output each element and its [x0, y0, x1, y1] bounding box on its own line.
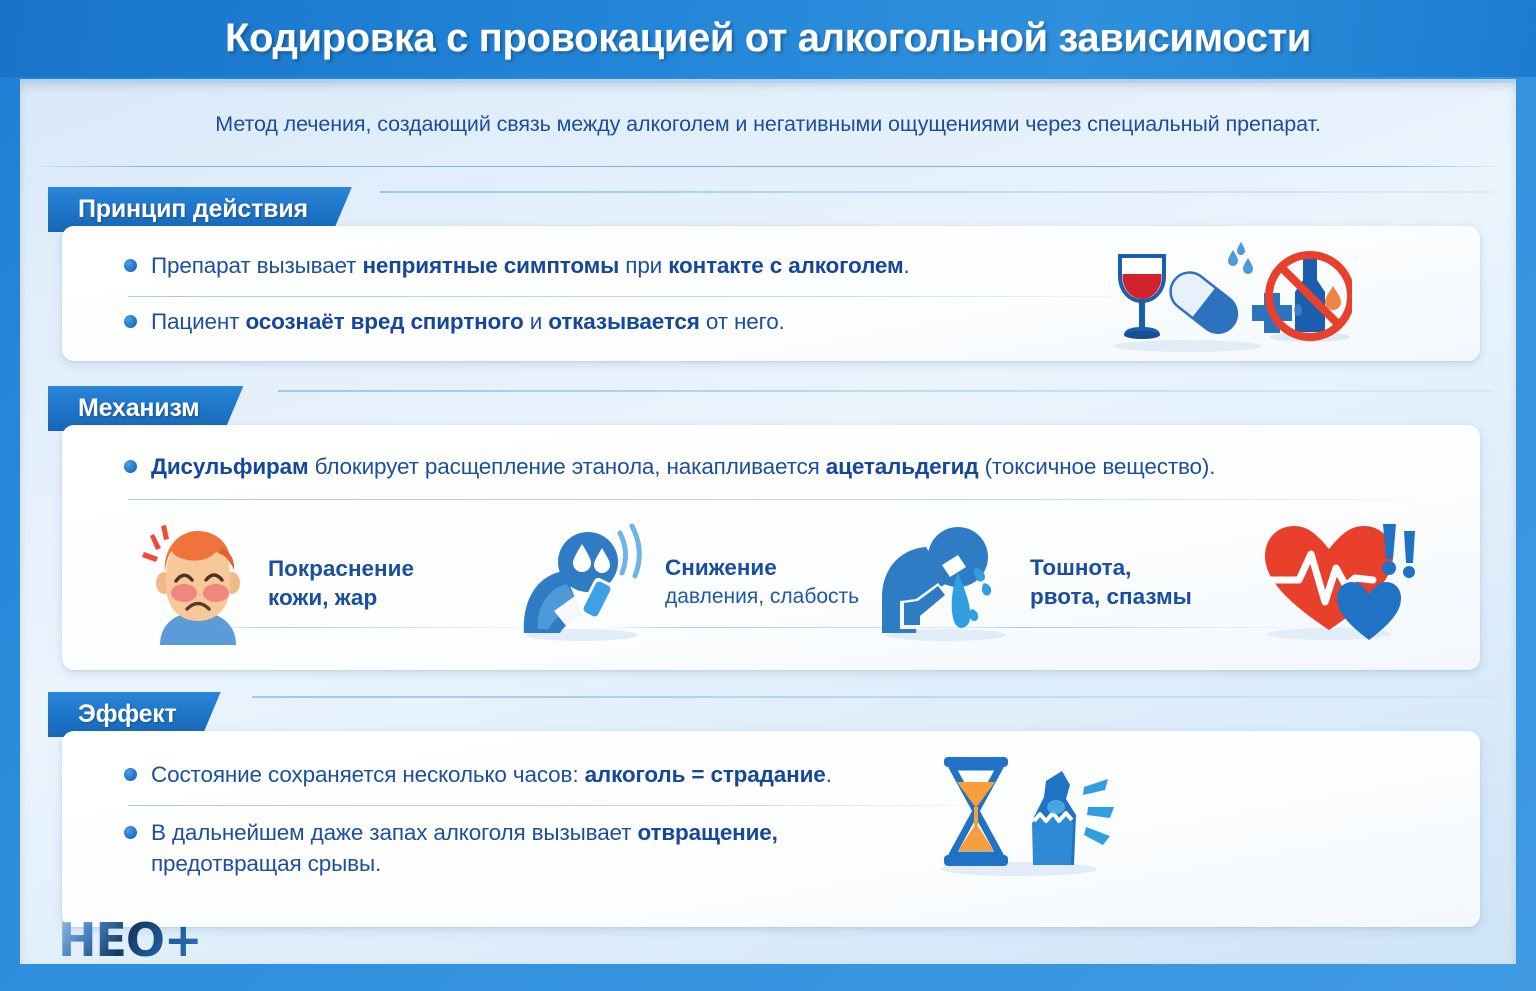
section-tab-label: Механизм [78, 394, 199, 423]
symptom-line2: давления, слабость [665, 582, 859, 611]
no-alcohol-bottle-icon [1269, 255, 1351, 342]
symptom-line2: кожи, жар [268, 583, 414, 612]
section-rule-principle [380, 191, 1494, 193]
bullet-item: Пациент осознаёт вред спиртного и отказы… [124, 306, 1124, 337]
symptom-line1: Снижение [665, 553, 859, 582]
symptom-text: Покраснение кожи, жар [268, 554, 414, 612]
subtitle-text: Метод лечения, создающий связь между алк… [215, 112, 1320, 136]
symptom-item-heart [1257, 518, 1417, 643]
bullet-item: Состояние сохраняется несколько часов: а… [124, 759, 984, 790]
principle-icon-group [1092, 240, 1352, 355]
exclamation-icon [1382, 524, 1415, 578]
section-rule-mechanism [278, 390, 1494, 392]
bullet-text: В дальнейшем даже запах алкоголя вызывае… [151, 817, 778, 879]
page-title: Кодировка с провокацией от алкогольной з… [225, 16, 1311, 61]
bullet-item: В дальнейшем даже запах алкоголя вызывае… [124, 817, 1004, 879]
symptom-underline [962, 627, 1282, 628]
bullet-text: Пациент осознаёт вред спиртного и отказы… [151, 306, 785, 337]
wine-glass-icon [1120, 256, 1164, 339]
bullet-item: Препарат вызывает неприятные симптомы пр… [124, 250, 1124, 281]
logo-text: НЕО+ [58, 913, 202, 967]
section-tab-label: Принцип действия [78, 195, 308, 224]
symptom-line1: Тошнота, [1030, 553, 1192, 582]
symptom-item-weakness: Снижение давления, слабость [520, 521, 859, 643]
droplet-icon [1228, 242, 1253, 274]
infographic-poster: Кодировка с провокацией от алкогольной з… [0, 0, 1536, 991]
motion-arc-icon [620, 526, 639, 576]
section-rule-effect [252, 696, 1494, 698]
bullet-dot-icon [124, 768, 137, 781]
bullet-divider [128, 805, 978, 806]
bullet-dot-icon [124, 315, 137, 328]
subtitle-divider [42, 166, 1494, 167]
icon-shadow [1113, 340, 1261, 352]
effect-icon-group [924, 751, 1124, 881]
hourglass-icon [944, 757, 1008, 866]
heat-mark-icon [142, 525, 169, 562]
card-principle: Препарат вызывает неприятные симптомы пр… [62, 226, 1480, 361]
bullet-dot-icon [124, 826, 137, 839]
symptom-line2: рвота, спазмы [1030, 582, 1192, 611]
bullet-text: Состояние сохраняется несколько часов: а… [151, 759, 832, 790]
card-mechanism: Дисульфирам блокирует расщепление этанол… [62, 425, 1480, 670]
brand-logo: НЕО+ [58, 913, 202, 967]
pill-capsule-icon [1163, 265, 1245, 341]
bullet-divider [128, 499, 1418, 500]
bullet-dot-icon [124, 460, 137, 473]
symptom-text: Тошнота, рвота, спазмы [1030, 553, 1192, 611]
vomiting-person-icon [880, 521, 1020, 643]
main-panel: Метод лечения, создающий связь между алк… [20, 79, 1516, 964]
droplet-orange-icon [1325, 286, 1341, 310]
symptom-line1: Покраснение [268, 554, 414, 583]
card-effect: Состояние сохраняется несколько часов: а… [62, 731, 1480, 927]
subtitle-container: Метод лечения, создающий связь между алк… [20, 112, 1516, 137]
title-bar: Кодировка с провокацией от алкогольной з… [0, 0, 1536, 77]
broken-bottle-icon [1032, 771, 1076, 865]
bullet-item: Дисульфирам блокирует расщепление этанол… [124, 451, 1424, 482]
section-tab-label: Эффект [78, 700, 177, 729]
heart-pulse-alert-icon [1257, 518, 1417, 643]
bullet-dot-icon [124, 259, 137, 272]
bullet-text: Дисульфирам блокирует расщепление этанол… [151, 451, 1215, 482]
weak-person-sweating-icon [520, 521, 655, 643]
symptom-item-nausea: Тошнота, рвота, спазмы [880, 521, 1192, 643]
impact-lines-icon [1083, 779, 1114, 845]
bullet-divider [128, 296, 1138, 297]
symptom-underline [212, 627, 522, 628]
bullet-text: Препарат вызывает неприятные симптомы пр… [151, 250, 910, 281]
symptom-text: Снижение давления, слабость [665, 553, 859, 611]
